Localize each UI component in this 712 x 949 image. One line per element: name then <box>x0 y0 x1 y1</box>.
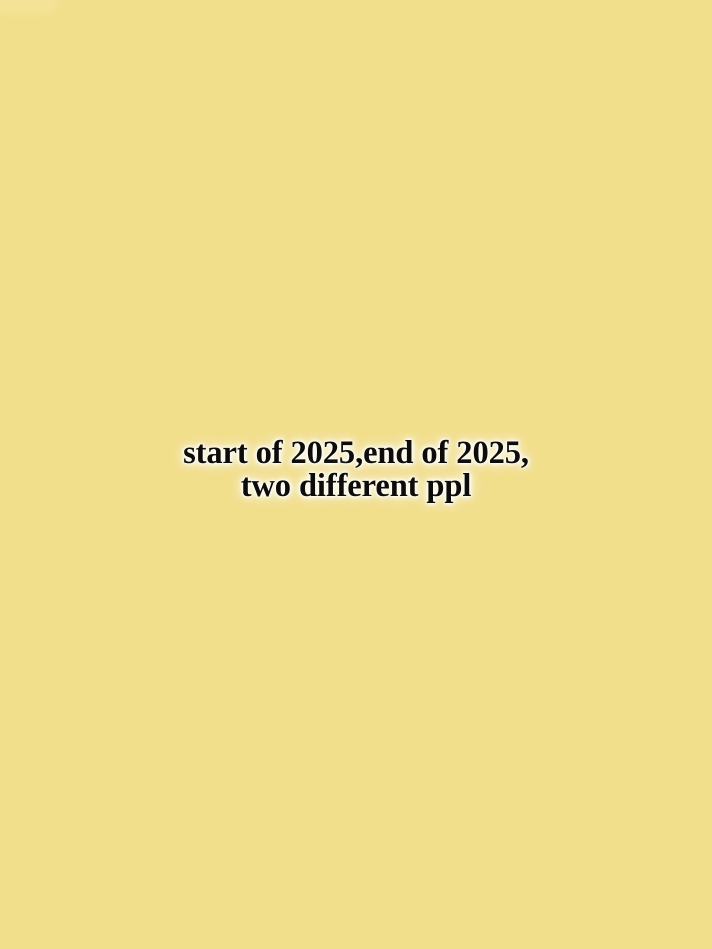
caption-line-2: two different ppl <box>0 470 712 503</box>
background-sheen <box>0 0 58 14</box>
caption-line-1: start of 2025,end of 2025, <box>0 437 712 470</box>
caption-text-block: start of 2025,end of 2025, two different… <box>0 437 712 503</box>
image-canvas: start of 2025,end of 2025, two different… <box>0 0 712 949</box>
